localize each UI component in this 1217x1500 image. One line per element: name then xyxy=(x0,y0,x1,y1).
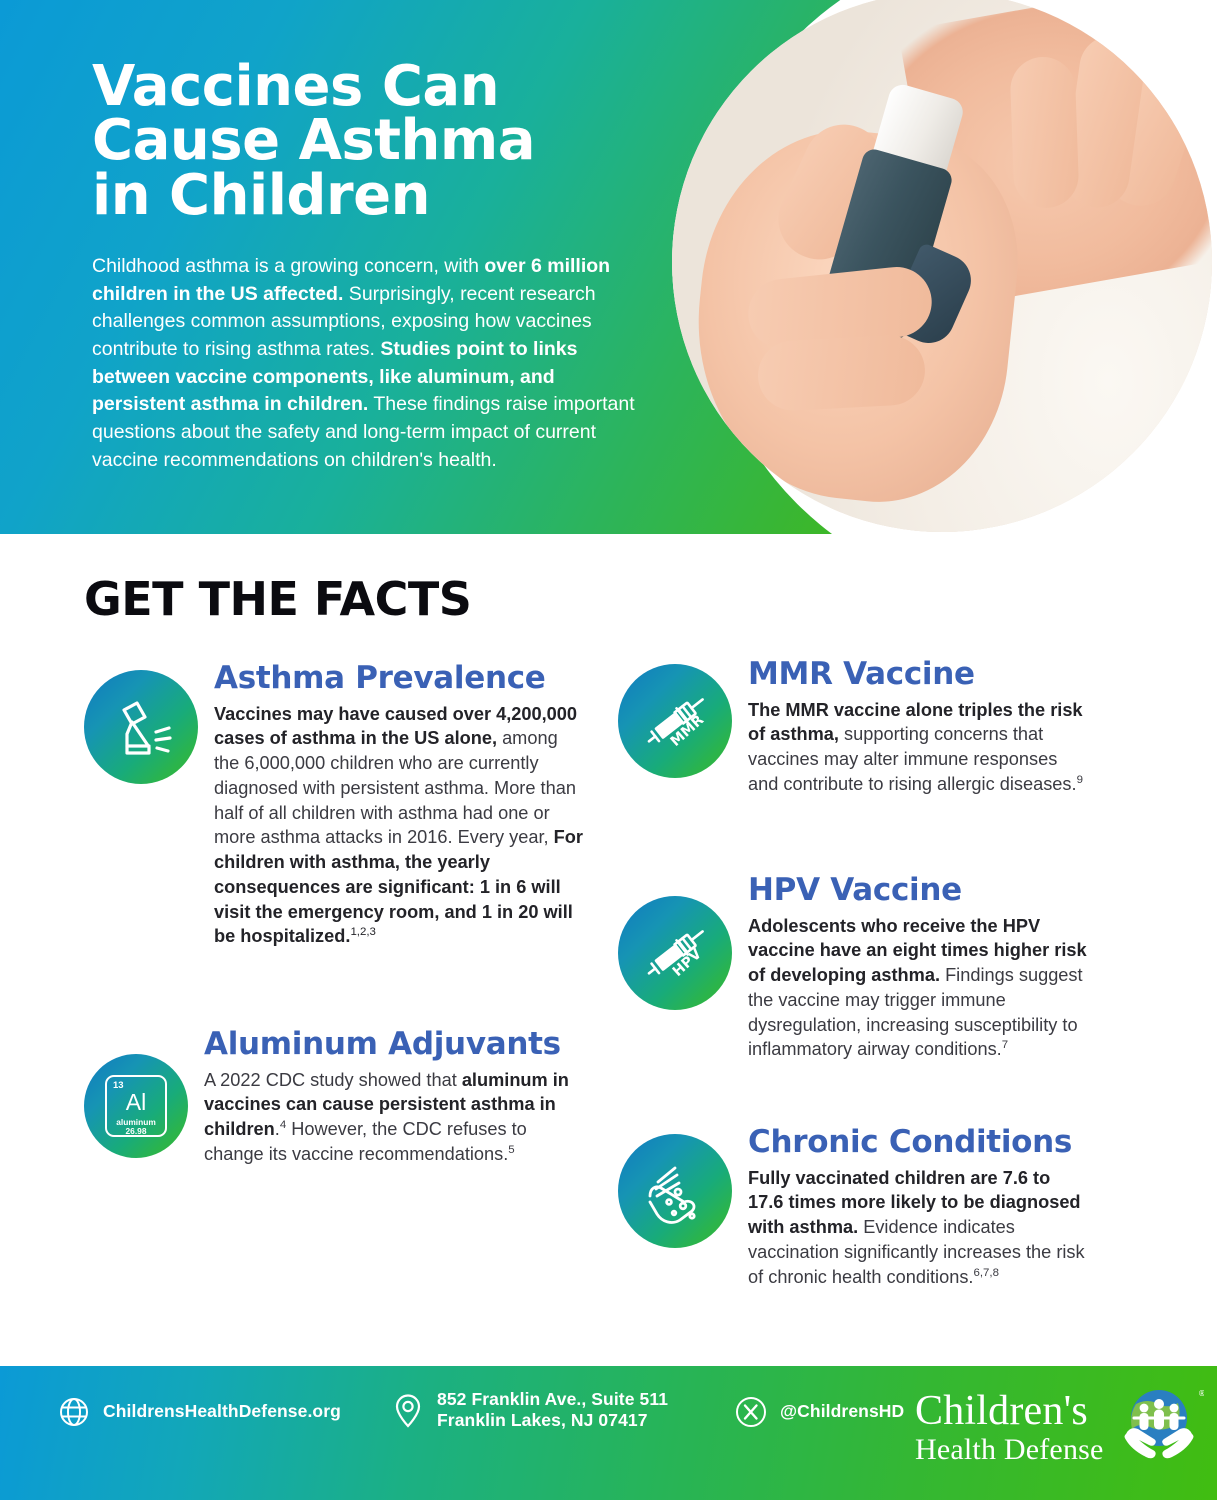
element-atomic-number: 13 xyxy=(113,1080,124,1091)
fact-body-wrap: Asthma Prevalence Vaccines may have caus… xyxy=(214,662,584,949)
chd-logo-icon: Children's Health Defense ® xyxy=(915,1382,1204,1473)
fact-title-asthma-prevalence: Asthma Prevalence xyxy=(214,662,584,695)
element-symbol: Al xyxy=(107,1091,165,1114)
footer-website[interactable]: ChildrensHealthDefense.org xyxy=(58,1396,341,1428)
footer-bar: ChildrensHealthDefense.org 852 Franklin … xyxy=(0,1366,1217,1500)
footer-address-text: 852 Franklin Ave., Suite 511 Franklin La… xyxy=(437,1389,668,1432)
fact-body-wrap: Aluminum Adjuvants A 2022 CDC study show… xyxy=(204,1028,584,1167)
headline-line-3: in Children xyxy=(92,169,662,223)
fact-card-hpv-vaccine: HPV HPV Vaccine Adolescents who receive … xyxy=(618,874,1088,1062)
footer-address-line-2: Franklin Lakes, NJ 07417 xyxy=(437,1410,648,1430)
infographic-page: Vaccines Can Cause Asthma in Children Ch… xyxy=(0,0,1217,1500)
footer-address: 852 Franklin Ave., Suite 511 Franklin La… xyxy=(392,1389,668,1432)
logo-line-2: Health Defense xyxy=(915,1435,1104,1465)
logo-line-1: Children's xyxy=(915,1390,1104,1432)
photo-finger-front-2 xyxy=(757,333,928,412)
fact-text-mmr-vaccine: The MMR vaccine alone triples the risk o… xyxy=(748,698,1088,797)
headline-line-2: Cause Asthma xyxy=(92,114,662,168)
syringe-hpv-icon: HPV xyxy=(618,896,732,1010)
header-text-block: Vaccines Can Cause Asthma in Children Ch… xyxy=(92,60,662,474)
get-the-facts-heading: GET THE FACTS xyxy=(84,572,471,626)
fact-icon-wrap: MMR xyxy=(618,664,732,778)
fact-text-aluminum-adjuvants: A 2022 CDC study showed that aluminum in… xyxy=(204,1068,584,1167)
fact-title-mmr-vaccine: MMR Vaccine xyxy=(748,658,1088,691)
syringe-mmr-icon: MMR xyxy=(618,664,732,778)
fact-card-chronic-conditions: Chronic Conditions Fully vaccinated chil… xyxy=(618,1126,1088,1289)
fact-card-aluminum-adjuvants: 13 Al aluminum 26.98 Aluminum Adjuvants … xyxy=(84,1028,584,1167)
footer-website-text: ChildrensHealthDefense.org xyxy=(103,1401,341,1422)
hero-photo-inhaler xyxy=(672,0,1212,532)
fact-icon-wrap: HPV xyxy=(618,896,732,1010)
fact-body-wrap: HPV Vaccine Adolescents who receive the … xyxy=(748,874,1088,1062)
fact-icon-wrap: 13 Al aluminum 26.98 xyxy=(84,1054,188,1158)
fact-card-mmr-vaccine: MMR MMR Vaccine The MMR vaccine alone tr… xyxy=(618,658,1088,797)
intro-paragraph: Childhood asthma is a growing concern, w… xyxy=(92,253,652,475)
fact-card-asthma-prevalence: Asthma Prevalence Vaccines may have caus… xyxy=(84,662,584,949)
x-twitter-icon xyxy=(735,1396,767,1428)
logo-globe-hands-mark: ® xyxy=(1114,1382,1204,1473)
footer-social[interactable]: @ChildrensHD xyxy=(735,1396,904,1428)
fact-text-chronic-conditions: Fully vaccinated children are 7.6 to 17.… xyxy=(748,1166,1088,1290)
fact-body-wrap: MMR Vaccine The MMR vaccine alone triple… xyxy=(748,658,1088,797)
inhaler-icon xyxy=(84,670,198,784)
globe-icon xyxy=(58,1396,90,1428)
fact-body-wrap: Chronic Conditions Fully vaccinated chil… xyxy=(748,1126,1088,1289)
element-atomic-mass: 26.98 xyxy=(107,1126,165,1136)
periodic-element-tile: 13 Al aluminum 26.98 xyxy=(105,1075,167,1137)
headline-line-1: Vaccines Can xyxy=(92,60,662,114)
fact-text-asthma-prevalence: Vaccines may have caused over 4,200,000 … xyxy=(214,702,584,950)
svg-text:®: ® xyxy=(1198,1389,1204,1398)
fact-title-chronic-conditions: Chronic Conditions xyxy=(748,1126,1088,1159)
photo-finger-3 xyxy=(1010,56,1080,209)
fact-title-aluminum-adjuvants: Aluminum Adjuvants xyxy=(204,1028,584,1061)
logo-wordmark: Children's Health Defense xyxy=(915,1390,1104,1465)
footer-address-line-1: 852 Franklin Ave., Suite 511 xyxy=(437,1389,668,1409)
map-pin-icon xyxy=(392,1392,424,1428)
footer-social-handle: @ChildrensHD xyxy=(780,1401,904,1422)
fact-title-hpv-vaccine: HPV Vaccine xyxy=(748,874,1088,907)
page-title: Vaccines Can Cause Asthma in Children xyxy=(92,60,662,223)
fact-icon-wrap xyxy=(84,670,198,784)
hand-rash-icon xyxy=(618,1134,732,1248)
fact-icon-wrap xyxy=(618,1134,732,1248)
aluminum-element-icon: 13 Al aluminum 26.98 xyxy=(84,1054,188,1158)
header-banner: Vaccines Can Cause Asthma in Children Ch… xyxy=(0,0,1217,534)
fact-text-hpv-vaccine: Adolescents who receive the HPV vaccine … xyxy=(748,914,1088,1063)
